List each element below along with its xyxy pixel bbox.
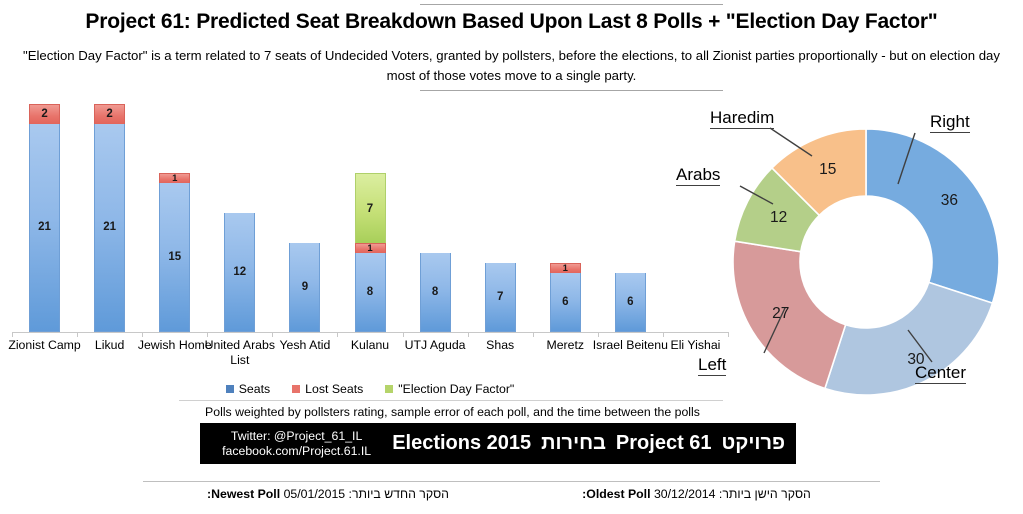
newest-poll-date: 05/01/2015 (284, 487, 346, 501)
legend-swatch-icon (226, 385, 234, 393)
x-axis-tick (533, 332, 534, 337)
newest-poll-info: הסקר החדש ביותר: 05/01/2015 Newest Poll: (143, 487, 513, 501)
bar-segment[interactable]: 1 (550, 263, 581, 273)
oldest-poll-label: Oldest Poll: (582, 487, 650, 501)
polls-weighting-note: Polls weighted by pollsters rating, samp… (180, 404, 725, 420)
banner-project-he: פרויקט (722, 432, 785, 454)
footer-divider (143, 481, 880, 482)
legend-label: Seats (239, 382, 270, 396)
donut-value-label: 12 (770, 209, 787, 227)
bar-segment[interactable]: 12 (224, 213, 255, 332)
legend-swatch-icon (385, 385, 393, 393)
bar-segment[interactable]: 6 (550, 273, 581, 332)
x-axis-tick (207, 332, 208, 337)
oldest-poll-info: הסקר הישן ביותר: 30/12/2014 Oldest Poll: (513, 487, 880, 501)
x-axis-tick (403, 332, 404, 337)
bar-column[interactable]: 221 (29, 104, 60, 332)
legend-item[interactable]: "Election Day Factor" (385, 382, 514, 396)
x-axis-tick (598, 332, 599, 337)
banner-main-title: Elections 2015בחירותProject 61פרויקט (387, 432, 796, 455)
bar-chart: 22122111512971887166 Zionist CampLikudJe… (0, 104, 740, 389)
legend-divider (179, 400, 723, 401)
x-axis-tick (337, 332, 338, 337)
bar-segment[interactable]: 15 (159, 183, 190, 332)
donut-callout-label: Left (698, 355, 726, 376)
bar-segment[interactable]: 7 (485, 263, 516, 332)
legend-swatch-icon (292, 385, 300, 393)
bar-segment[interactable]: 7 (355, 173, 386, 242)
legend-label: "Election Day Factor" (398, 382, 514, 396)
bar-column[interactable]: 16 (550, 263, 581, 332)
donut-value-label: 36 (941, 192, 958, 210)
bar-plot-area: 22122111512971887166 (0, 104, 740, 332)
subtitle-divider (420, 90, 723, 91)
x-axis-line (12, 332, 728, 333)
donut-callout-label: Right (930, 112, 970, 133)
legend-label: Lost Seats (305, 382, 363, 396)
donut-callout-label: Center (915, 363, 966, 384)
banner-twitter[interactable]: Twitter: @Project_61_IL (206, 429, 387, 444)
bar-chart-legend: SeatsLost Seats"Election Day Factor" (0, 382, 740, 396)
bar-segment[interactable]: 8 (355, 253, 386, 332)
donut-slice[interactable] (825, 282, 993, 395)
donut-chart: 3630271215 RightCenterLeftArabsHaredim (660, 100, 1023, 400)
newest-poll-label: Newest Poll: (207, 487, 280, 501)
bar-segment[interactable]: 21 (29, 124, 60, 332)
bar-segment[interactable]: 2 (94, 104, 125, 124)
x-axis-tick (77, 332, 78, 337)
legend-item[interactable]: Lost Seats (292, 382, 363, 396)
donut-callout-label: Haredim (710, 108, 774, 129)
banner-facebook[interactable]: facebook.com/Project.61.IL (206, 444, 387, 459)
bar-column[interactable]: 221 (94, 104, 125, 332)
bar-segment[interactable]: 21 (94, 124, 125, 332)
x-axis-tick (468, 332, 469, 337)
legend-item[interactable]: Seats (226, 382, 270, 396)
bar-column[interactable]: 6 (615, 273, 646, 332)
donut-callout-label: Arabs (676, 165, 720, 186)
oldest-poll-he-label: הסקר הישן ביותר: (719, 487, 811, 501)
bar-column[interactable]: 12 (224, 213, 255, 332)
page-subtitle: "Election Day Factor" is a term related … (21, 46, 1002, 86)
bar-segment[interactable]: 1 (159, 173, 190, 183)
oldest-poll-date: 30/12/2014 (654, 487, 716, 501)
bar-column[interactable]: 8 (420, 253, 451, 332)
bar-column[interactable]: 9 (289, 243, 320, 332)
x-axis-tick (142, 332, 143, 337)
banner-project-en: Project 61 (616, 432, 712, 454)
x-axis-tick (272, 332, 273, 337)
bar-segment[interactable]: 6 (615, 273, 646, 332)
x-axis-tick (12, 332, 13, 337)
newest-poll-he-label: הסקר החדש ביותר: (349, 487, 449, 501)
banner-elections-en: Elections 2015 (392, 432, 531, 454)
banner-elections-he: בחירות (541, 432, 606, 454)
bar-segment[interactable]: 9 (289, 243, 320, 332)
page-title: Project 61: Predicted Seat Breakdown Bas… (0, 9, 1023, 35)
top-divider (420, 4, 723, 5)
bar-column[interactable]: 7 (485, 263, 516, 332)
bar-segment[interactable]: 2 (29, 104, 60, 124)
bar-segment[interactable]: 1 (355, 243, 386, 253)
donut-value-label: 27 (772, 305, 789, 323)
donut-value-label: 15 (819, 161, 836, 179)
project-banner: Twitter: @Project_61_IL facebook.com/Pro… (200, 423, 796, 464)
bar-column[interactable]: 718 (355, 173, 386, 332)
bar-column[interactable]: 115 (159, 173, 190, 332)
banner-social-block: Twitter: @Project_61_IL facebook.com/Pro… (200, 429, 387, 459)
bar-segment[interactable]: 8 (420, 253, 451, 332)
donut-slice[interactable] (866, 129, 999, 303)
